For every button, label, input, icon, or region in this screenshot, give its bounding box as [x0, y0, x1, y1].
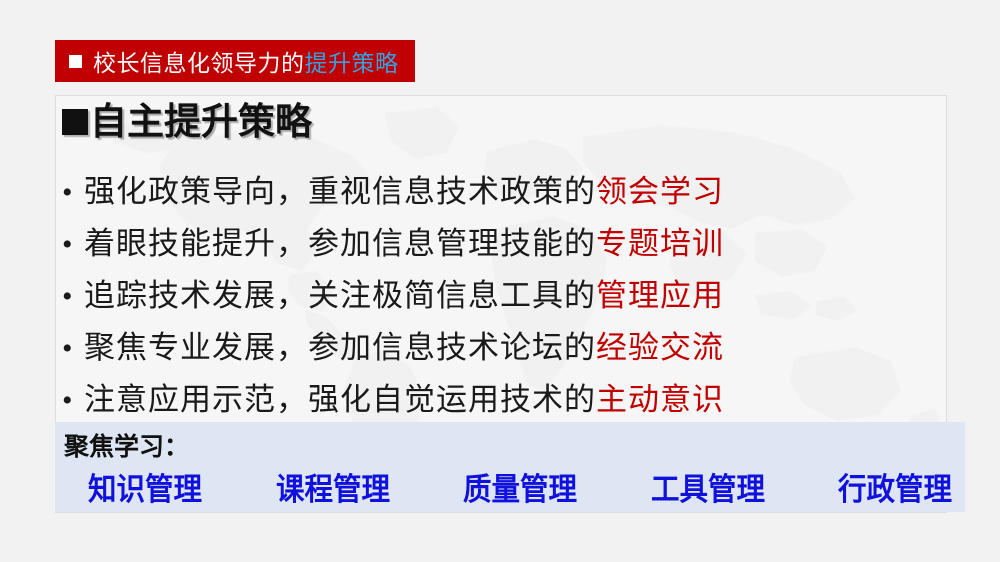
list-item: • 聚焦专业发展，参加信息技术论坛的 经验交流: [62, 322, 892, 374]
bullet-text: 着眼技能提升，参加信息管理技能的: [84, 218, 596, 263]
bullet-accent-text: 管理应用: [596, 270, 724, 315]
focus-item-quality-management[interactable]: 质量管理: [463, 464, 577, 509]
bullet-dot-icon: •: [62, 230, 84, 260]
focus-item-knowledge-management[interactable]: 知识管理: [88, 464, 202, 509]
bullet-text: 聚焦专业发展，参加信息技术论坛的: [84, 322, 596, 367]
bullet-text: 注意应用示范，强化自觉运用技术的: [84, 374, 596, 419]
list-item: • 强化政策导向，重视信息技术政策的 领会学习: [62, 166, 892, 218]
focus-item-administrative-management[interactable]: 行政管理: [838, 464, 952, 509]
list-item: • 追踪技术发展，关注极简信息工具的 管理应用: [62, 270, 892, 322]
bullet-accent-text: 主动意识: [596, 374, 724, 419]
bullet-dot-icon: •: [62, 282, 84, 312]
bullet-dot-icon: •: [62, 178, 84, 208]
section-heading-text: 自主提升策略: [90, 103, 312, 140]
slide-title-banner: 校长信息化领导力的 提升策略: [55, 40, 415, 82]
bullet-list: • 强化政策导向，重视信息技术政策的 领会学习 • 着眼技能提升，参加信息管理技…: [62, 166, 892, 426]
title-accent-text: 提升策略: [305, 44, 399, 78]
focus-panel-label: 聚焦学习：: [64, 427, 189, 463]
bullet-text: 强化政策导向，重视信息技术政策的: [84, 166, 596, 211]
white-square-icon: [69, 55, 82, 68]
focus-item-curriculum-management[interactable]: 课程管理: [275, 464, 389, 509]
list-item: • 注意应用示范，强化自觉运用技术的 主动意识: [62, 374, 892, 426]
bullet-accent-text: 经验交流: [596, 322, 724, 367]
focus-items-row: 知识管理 课程管理 质量管理 工具管理 行政管理: [83, 464, 957, 509]
slide-canvas: 校长信息化领导力的 提升策略 自主提升策略 • 强化政策导向，重视信息技术政策的…: [0, 0, 1000, 562]
list-item: • 着眼技能提升，参加信息管理技能的 专题培训: [62, 218, 892, 270]
black-square-icon: [62, 109, 88, 135]
focus-panel: 聚焦学习： 知识管理 课程管理 质量管理 工具管理 行政管理: [55, 422, 965, 512]
focus-item-tool-management[interactable]: 工具管理: [650, 464, 764, 509]
bullet-accent-text: 领会学习: [596, 166, 724, 211]
bullet-text: 追踪技术发展，关注极简信息工具的: [84, 270, 596, 315]
title-main-text: 校长信息化领导力的: [93, 44, 305, 78]
bullet-accent-text: 专题培训: [596, 218, 724, 263]
bullet-dot-icon: •: [62, 334, 84, 364]
bullet-dot-icon: •: [62, 386, 84, 416]
section-heading: 自主提升策略: [62, 103, 312, 140]
